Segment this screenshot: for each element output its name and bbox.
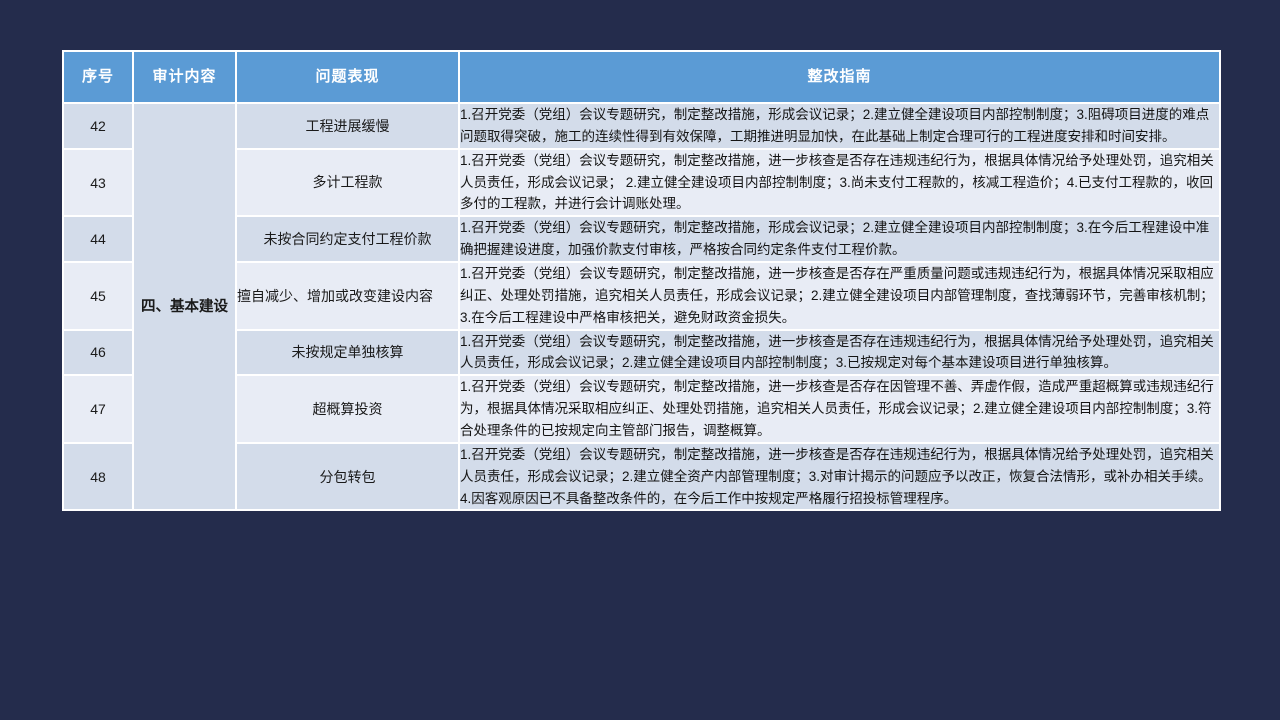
cell-rectification-guide: 1.召开党委（党组）会议专题研究，制定整改措施，进一步核查是否存在违规违纪行为，… (460, 150, 1221, 218)
cell-rectification-guide: 1.召开党委（党组）会议专题研究，制定整改措施，进一步核查是否存在严重质量问题或… (460, 263, 1221, 331)
cell-rectification-guide: 1.召开党委（党组）会议专题研究，制定整改措施，进一步核查是否存在违规违纪行为，… (460, 331, 1221, 377)
cell-problem: 超概算投资 (237, 376, 460, 444)
column-header-problem: 问题表现 (237, 50, 460, 104)
table-header: 序号 审计内容 问题表现 整改指南 (62, 50, 1221, 104)
cell-sequence-number: 42 (62, 104, 134, 150)
cell-sequence-number: 45 (62, 263, 134, 331)
cell-problem: 未按规定单独核算 (237, 331, 460, 377)
cell-problem: 工程进展缓慢 (237, 104, 460, 150)
cell-sequence-number: 44 (62, 217, 134, 263)
audit-rectification-table: 序号 审计内容 问题表现 整改指南 42四、基本建设工程进展缓慢1.召开党委（党… (62, 50, 1221, 511)
cell-rectification-guide: 1.召开党委（党组）会议专题研究，制定整改措施，形成会议记录；2.建立健全建设项… (460, 104, 1221, 150)
cell-problem: 擅自减少、增加或改变建设内容 (237, 263, 460, 331)
cell-audit-content-group: 四、基本建设 (134, 104, 237, 511)
table-row: 42四、基本建设工程进展缓慢1.召开党委（党组）会议专题研究，制定整改措施，形成… (62, 104, 1221, 150)
cell-problem: 分包转包 (237, 444, 460, 512)
table-body: 42四、基本建设工程进展缓慢1.召开党委（党组）会议专题研究，制定整改措施，形成… (62, 104, 1221, 511)
cell-sequence-number: 46 (62, 331, 134, 377)
cell-rectification-guide: 1.召开党委（党组）会议专题研究，制定整改措施，形成会议记录；2.建立健全建设项… (460, 217, 1221, 263)
cell-rectification-guide: 1.召开党委（党组）会议专题研究，制定整改措施，进一步核查是否存在因管理不善、弄… (460, 376, 1221, 444)
cell-rectification-guide: 1.召开党委（党组）会议专题研究，制定整改措施，进一步核查是否存在违规违纪行为，… (460, 444, 1221, 512)
cell-problem: 未按合同约定支付工程价款 (237, 217, 460, 263)
column-header-no: 序号 (62, 50, 134, 104)
cell-sequence-number: 47 (62, 376, 134, 444)
header-row: 序号 审计内容 问题表现 整改指南 (62, 50, 1221, 104)
column-header-audit-content: 审计内容 (134, 50, 237, 104)
cell-problem: 多计工程款 (237, 150, 460, 218)
column-header-guide: 整改指南 (460, 50, 1221, 104)
slide-canvas: 序号 审计内容 问题表现 整改指南 42四、基本建设工程进展缓慢1.召开党委（党… (0, 0, 1280, 720)
cell-sequence-number: 43 (62, 150, 134, 218)
cell-sequence-number: 48 (62, 444, 134, 512)
